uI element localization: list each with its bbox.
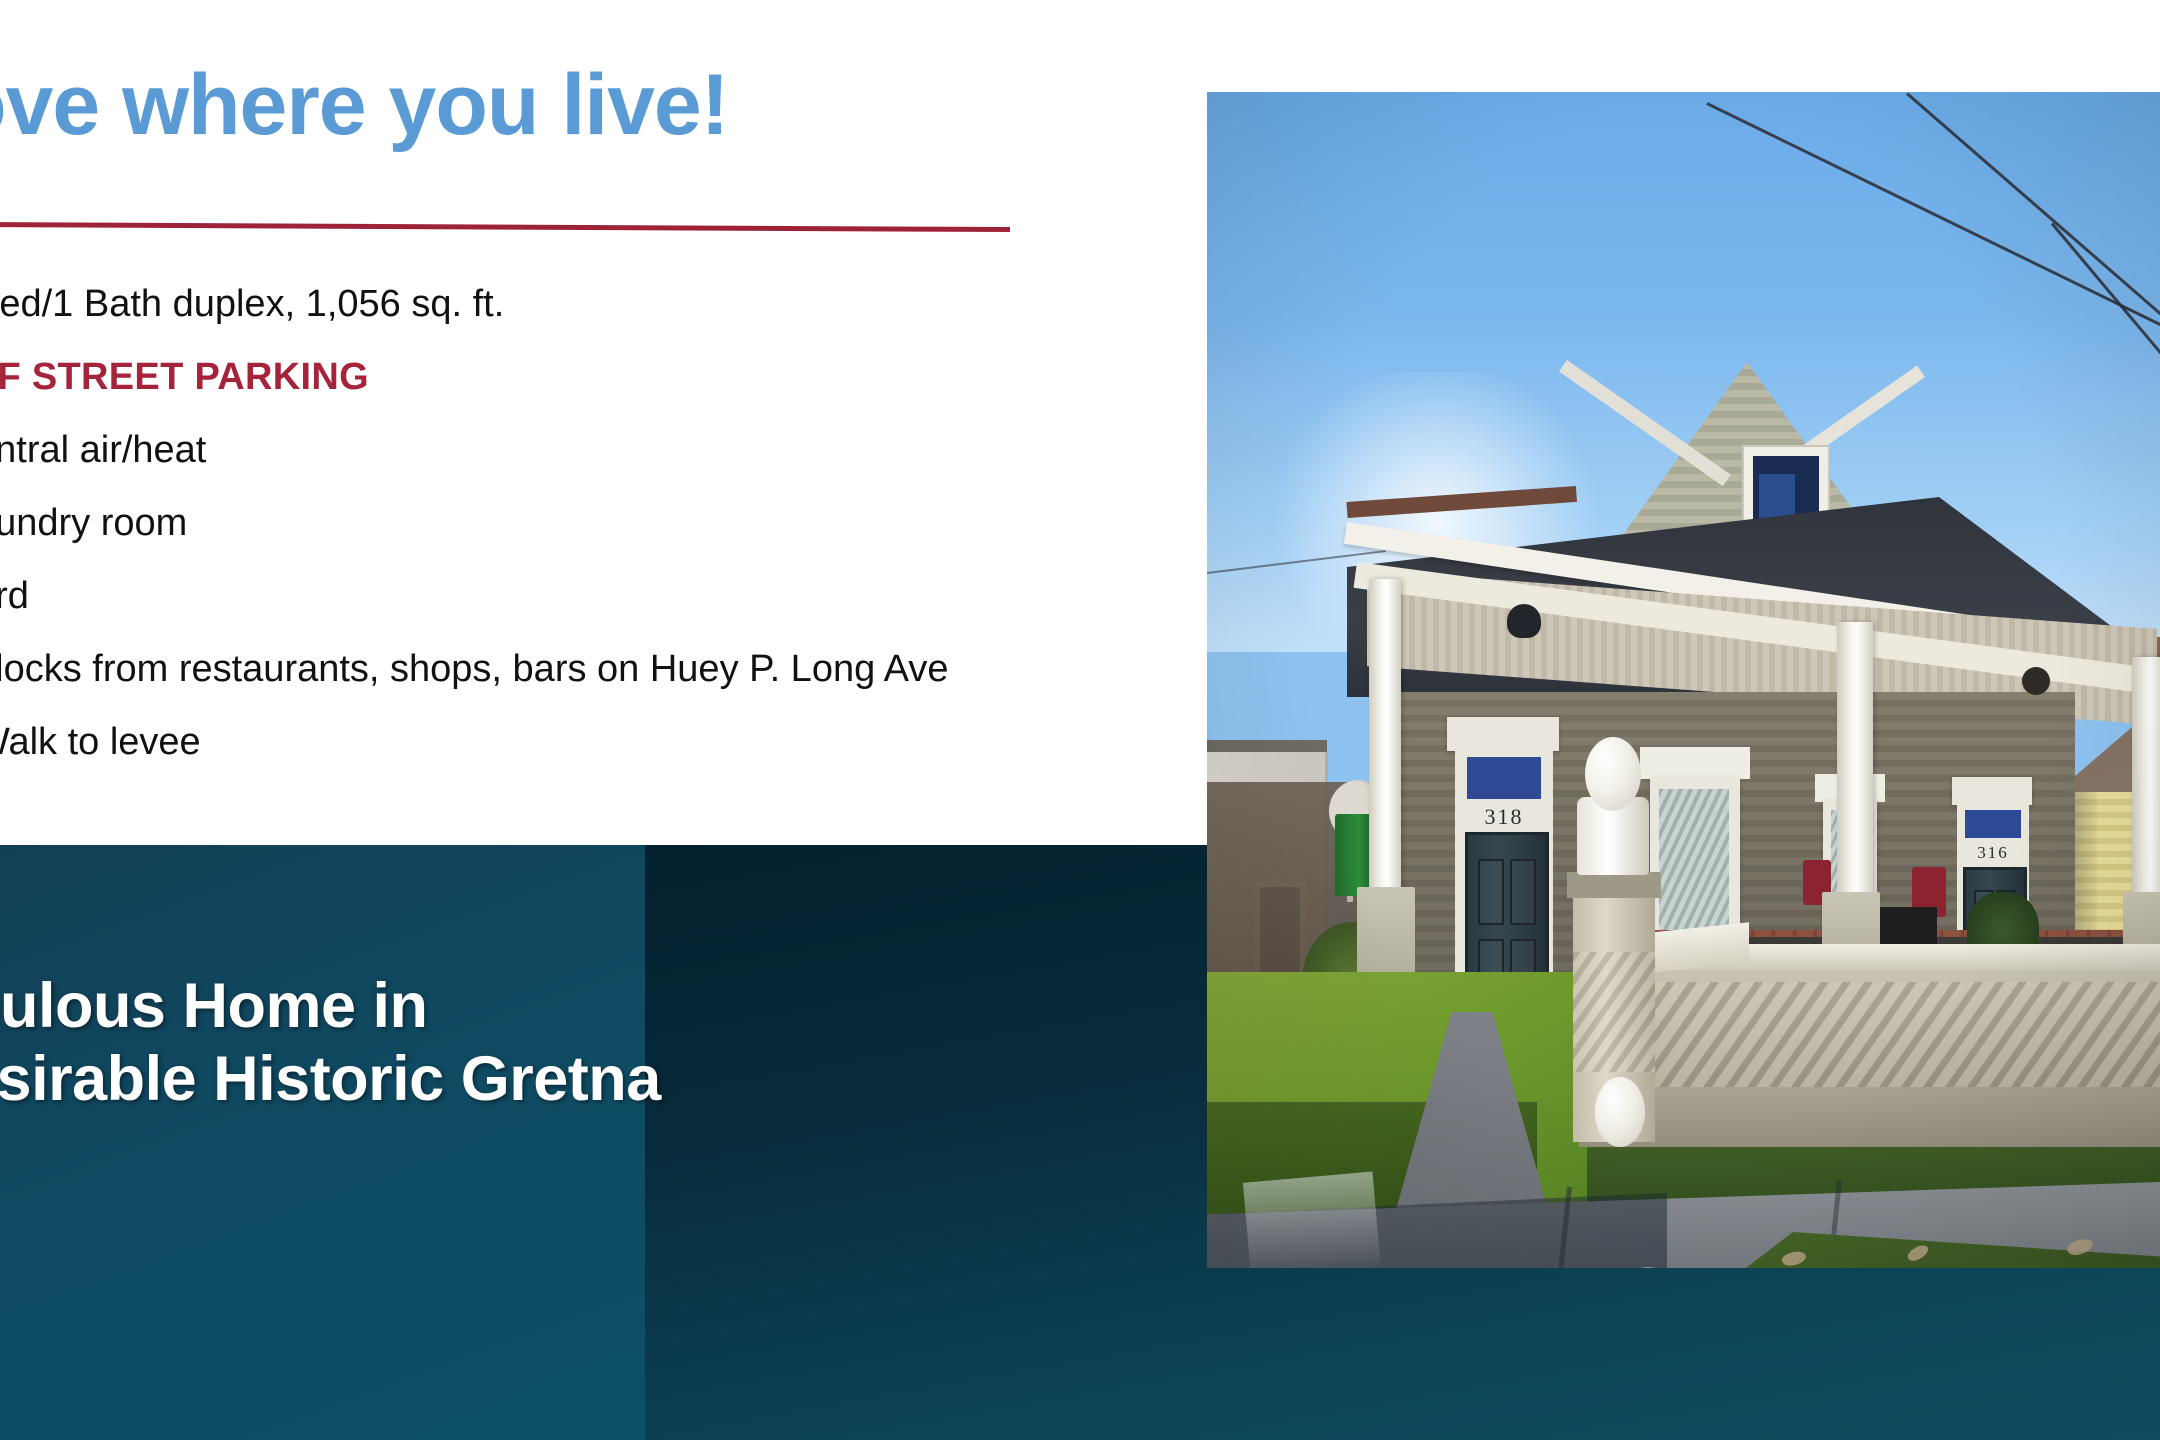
window-header bbox=[1640, 747, 1750, 779]
info-panel: ove where you live! Bed/1 Bath duplex, 1… bbox=[0, 0, 1185, 845]
house-number-left: 318 bbox=[1465, 804, 1543, 830]
banner-band-left bbox=[0, 845, 645, 1440]
list-item: Walk to levee bbox=[0, 723, 1174, 761]
front-window-upper-sash bbox=[1659, 789, 1729, 939]
fence-finial-ball-lower bbox=[1595, 1077, 1645, 1147]
door-transom-right bbox=[1965, 810, 2021, 838]
fence-finial-ball bbox=[1585, 737, 1641, 811]
house-number-right: 316 bbox=[1963, 843, 2023, 863]
porch-light-icon bbox=[2022, 667, 2050, 695]
list-item-highlight: FF STREET PARKING bbox=[0, 358, 1174, 396]
feature-list: Bed/1 Bath duplex, 1,056 sq. ft. FF STRE… bbox=[0, 285, 1174, 796]
slide-canvas: ove where you live! Bed/1 Bath duplex, 1… bbox=[0, 0, 2160, 1440]
list-item: Bed/1 Bath duplex, 1,056 sq. ft. bbox=[0, 285, 1174, 323]
fence-wall-texture bbox=[1579, 982, 2160, 1087]
title-divider bbox=[0, 222, 1010, 232]
page-title: ove where you live! bbox=[0, 60, 728, 150]
door-panel bbox=[1510, 859, 1536, 925]
door-header-left bbox=[1447, 717, 1559, 751]
door-header-right bbox=[1952, 777, 2032, 805]
list-item: entral air/heat bbox=[0, 431, 1174, 469]
fence-post-texture bbox=[1573, 952, 1655, 1072]
sidewalk-highlight bbox=[1243, 1172, 1381, 1268]
banner-headline: bulous Home in esirable Historic Gretna bbox=[0, 970, 1112, 1116]
list-item: blocks from restaurants, shops, bars on … bbox=[0, 650, 1174, 688]
property-photo: 318 316 bbox=[1207, 92, 2160, 1268]
fence-post-cap bbox=[1567, 872, 1661, 898]
door-panel bbox=[1478, 859, 1504, 925]
list-item: ard bbox=[0, 577, 1174, 615]
porch-light-icon bbox=[1507, 604, 1541, 638]
list-item: aundry room bbox=[0, 504, 1174, 542]
door-transom-left bbox=[1467, 757, 1541, 799]
